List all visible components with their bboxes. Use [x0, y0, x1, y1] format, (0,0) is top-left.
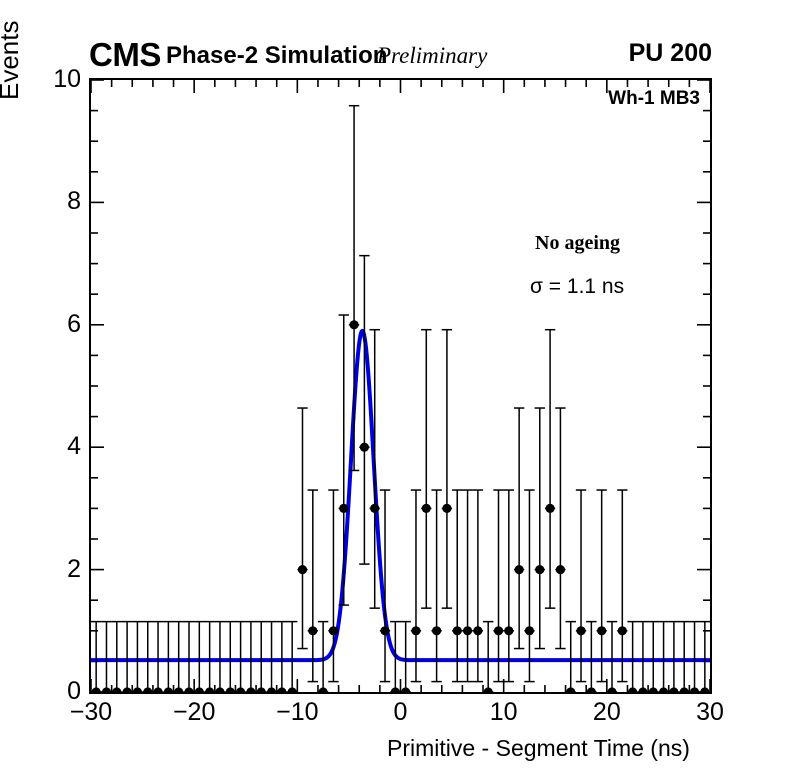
- fit-curve: [91, 331, 710, 660]
- header: CMS Phase-2 Simulation Preliminary PU 20…: [0, 0, 796, 78]
- data-point: [205, 687, 214, 692]
- x-tick-label: −30: [51, 698, 131, 727]
- data-point: [360, 443, 369, 452]
- data-point: [628, 687, 637, 692]
- data-point: [535, 565, 544, 574]
- data-point: [380, 626, 389, 635]
- data-point: [195, 687, 204, 692]
- cms-logo: CMS: [89, 38, 161, 71]
- x-tick-label: −10: [257, 698, 337, 727]
- data-point: [607, 687, 616, 692]
- x-tick-label: 0: [361, 698, 441, 727]
- data-point: [463, 626, 472, 635]
- data-point: [659, 687, 668, 692]
- data-point: [112, 687, 121, 692]
- data-point: [215, 687, 224, 692]
- y-tick-label: 4: [35, 432, 81, 461]
- x-tick-label: 30: [670, 698, 750, 727]
- ageing-annotation: No ageing: [535, 232, 620, 255]
- data-point: [649, 687, 658, 692]
- data-point: [484, 687, 493, 692]
- data-point: [422, 504, 431, 513]
- data-point: [236, 687, 245, 692]
- data-point: [515, 565, 524, 574]
- data-point: [442, 504, 451, 513]
- data-point: [401, 687, 410, 692]
- x-tick-label: −20: [154, 698, 234, 727]
- data-point: [174, 687, 183, 692]
- data-point: [545, 504, 554, 513]
- data-point: [453, 626, 462, 635]
- data-point: [504, 626, 513, 635]
- y-tick-label: 6: [35, 310, 81, 339]
- data-point: [494, 626, 503, 635]
- data-point: [411, 626, 420, 635]
- x-tick-label: 10: [464, 698, 544, 727]
- data-point: [298, 565, 307, 574]
- plot-frame: Wh-1 MB3 No ageing σ = 1.1 ns: [89, 78, 712, 694]
- x-tick-label: 20: [567, 698, 647, 727]
- data-point: [102, 687, 111, 692]
- data-point: [288, 687, 297, 692]
- data-point: [525, 626, 534, 635]
- data-point: [638, 687, 647, 692]
- data-point: [184, 687, 193, 692]
- data-point: [473, 626, 482, 635]
- data-point: [246, 687, 255, 692]
- plot-area: [91, 80, 710, 692]
- data-point: [319, 687, 328, 692]
- y-tick-label: 8: [35, 187, 81, 216]
- preliminary-label: Preliminary: [377, 44, 487, 67]
- data-point: [669, 687, 678, 692]
- data-point: [618, 626, 627, 635]
- data-point: [690, 687, 699, 692]
- data-point: [370, 504, 379, 513]
- data-point: [226, 687, 235, 692]
- simulation-label: Phase-2 Simulation: [166, 44, 387, 68]
- data-point: [257, 687, 266, 692]
- data-point: [267, 687, 276, 692]
- pileup-label: PU 200: [629, 41, 712, 66]
- data-point: [349, 320, 358, 329]
- data-point: [277, 687, 286, 692]
- data-point: [339, 504, 348, 513]
- data-point: [680, 687, 689, 692]
- error-bars: [91, 106, 710, 692]
- axis-ticks: [91, 80, 710, 692]
- plot-canvas: CMS Phase-2 Simulation Preliminary PU 20…: [0, 0, 796, 772]
- y-tick-label: 2: [35, 555, 81, 584]
- data-point: [143, 687, 152, 692]
- y-axis-title: Events: [0, 21, 25, 101]
- data-point: [164, 687, 173, 692]
- data-point: [153, 687, 162, 692]
- data-point: [700, 687, 709, 692]
- data-point: [587, 687, 596, 692]
- x-axis-title: Primitive - Segment Time (ns): [387, 735, 690, 762]
- data-point: [133, 687, 142, 692]
- data-point: [92, 687, 101, 692]
- data-point: [308, 626, 317, 635]
- data-point: [576, 626, 585, 635]
- data-point: [556, 565, 565, 574]
- data-points: [92, 320, 710, 692]
- sigma-annotation: σ = 1.1 ns: [530, 275, 624, 299]
- data-point: [432, 626, 441, 635]
- data-point: [566, 687, 575, 692]
- data-point: [329, 626, 338, 635]
- data-point: [123, 687, 132, 692]
- data-point: [391, 687, 400, 692]
- chamber-label: Wh-1 MB3: [608, 88, 700, 110]
- data-point: [597, 626, 606, 635]
- y-tick-label: 10: [35, 65, 81, 94]
